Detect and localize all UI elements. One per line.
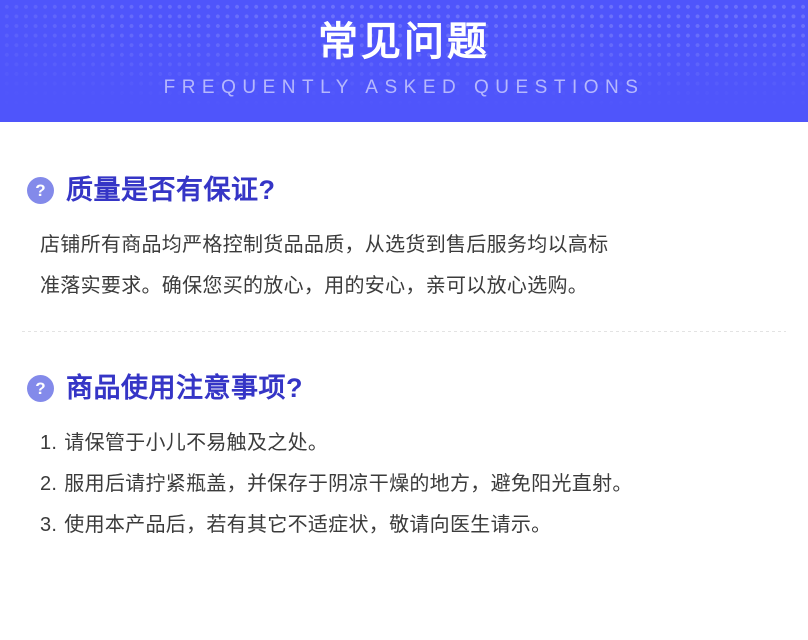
list-item-text: 请保管于小儿不易触及之处。 [64,423,786,464]
list-item-number: 1. [40,423,57,464]
question-mark-icon: ? [27,177,54,204]
faq-question-title-1: 质量是否有保证? [66,174,276,206]
banner-text-group: 常见问题 FREQUENTLY ASKED QUESTIONS [0,0,808,101]
faq-item-1: ? 质量是否有保证? 店铺所有商品均严格控制货品品质，从选货到售后服务均以高标 … [22,122,786,307]
faq-content: ? 质量是否有保证? 店铺所有商品均严格控制货品品质，从选货到售后服务均以高标 … [0,122,808,546]
faq-answer-line: 准落实要求。确保您买的放心，用的安心，亲可以放心选购。 [40,266,768,307]
list-item: 3. 使用本产品后，若有其它不适症状，敬请向医生请示。 [40,505,786,546]
list-item-text: 使用本产品后，若有其它不适症状，敬请向医生请示。 [64,505,786,546]
question-mark-icon: ? [27,375,54,402]
list-item-number: 3. [40,505,57,546]
faq-answer-1: 店铺所有商品均严格控制货品品质，从选货到售后服务均以高标 准落实要求。确保您买的… [22,225,786,307]
list-item: 2. 服用后请拧紧瓶盖，并保存于阴凉干燥的地方，避免阳光直射。 [40,464,786,505]
list-item-number: 2. [40,464,57,505]
page-subtitle: FREQUENTLY ASKED QUESTIONS [0,75,808,101]
faq-steps-list: 1. 请保管于小儿不易触及之处。 2. 服用后请拧紧瓶盖，并保存于阴凉干燥的地方… [22,423,786,546]
faq-question-header-1: ? 质量是否有保证? [22,174,786,206]
faq-question-title-2: 商品使用注意事项? [66,372,303,404]
faq-banner: 常见问题 FREQUENTLY ASKED QUESTIONS [0,0,808,122]
faq-question-header-2: ? 商品使用注意事项? [22,372,786,404]
list-item-text: 服用后请拧紧瓶盖，并保存于阴凉干燥的地方，避免阳光直射。 [64,464,786,505]
faq-item-2: ? 商品使用注意事项? 1. 请保管于小儿不易触及之处。 2. 服用后请拧紧瓶盖… [22,332,786,546]
page-title: 常见问题 [0,18,808,66]
faq-answer-line: 店铺所有商品均严格控制货品品质，从选货到售后服务均以高标 [40,225,768,266]
list-item: 1. 请保管于小儿不易触及之处。 [40,423,786,464]
